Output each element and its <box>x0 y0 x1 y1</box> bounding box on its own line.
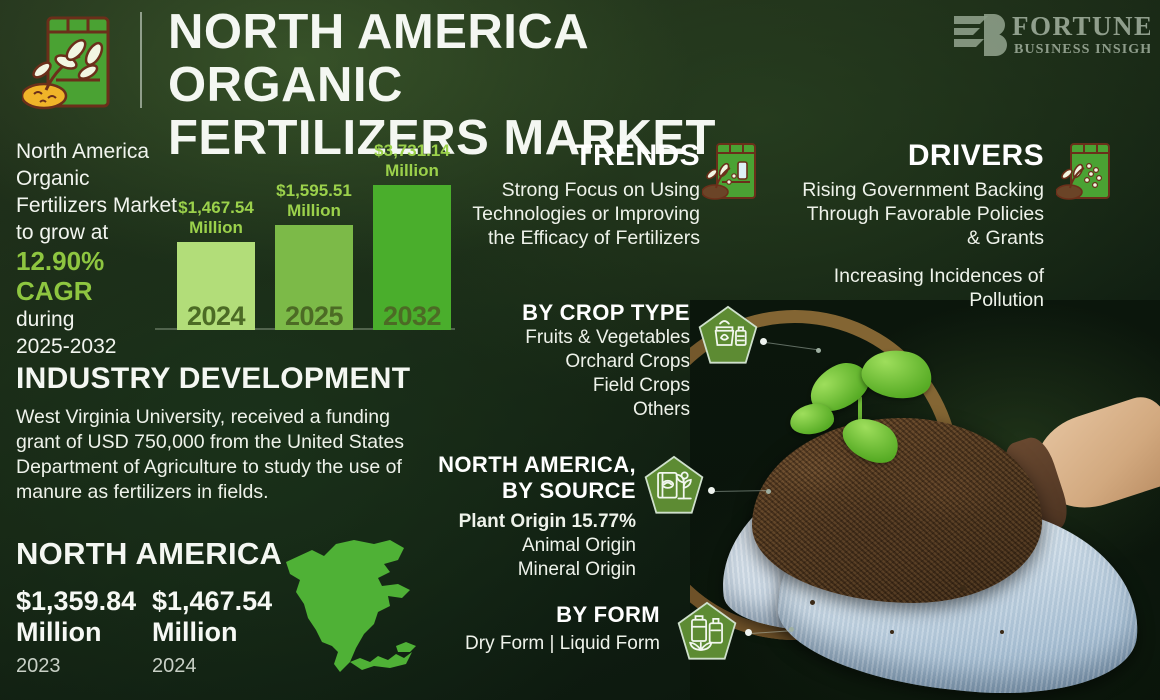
segment-item: Orchard Crops <box>440 350 690 374</box>
segment-item: Dry Form | Liquid Form <box>420 632 660 656</box>
segment-by-form: BY FORM Dry Form | Liquid Form <box>420 602 660 656</box>
segment-heading: BY CROP TYPE <box>440 300 690 326</box>
bar-group-2025: $1,595.51 Million 2025 <box>275 181 353 330</box>
bar-year-label: 2025 <box>275 301 353 332</box>
bar-year-label: 2024 <box>177 301 255 332</box>
infographic-root: NORTH AMERICA ORGANIC FERTILIZERS MARKET… <box>0 0 1160 700</box>
segment-by-source: NORTH AMERICA, BY SOURCE Plant Origin 15… <box>400 452 636 582</box>
cagr-line-2: Fertilizers Market <box>16 194 177 217</box>
bar-group-2024: $1,467.54 Million 2024 <box>177 198 255 330</box>
header: NORTH AMERICA ORGANIC FERTILIZERS MARKET… <box>0 0 1160 120</box>
segment-item: Plant Origin 15.77% <box>400 510 636 534</box>
trends-section: TRENDS Strong Focus on Using Technologie… <box>440 138 700 250</box>
north-america-heading: NORTH AMERICA <box>16 536 282 572</box>
trends-body: Strong Focus on Using Technologies or Im… <box>440 178 700 250</box>
drivers-heading: DRIVERS <box>800 138 1044 174</box>
segment-item: Animal Origin <box>400 534 636 558</box>
market-bar-chart: $1,467.54 Million 2024 $1,595.51 Million… <box>155 140 455 330</box>
form-bottle-icon <box>676 600 738 666</box>
cagr-line-1: North America Organic <box>16 140 149 190</box>
cagr-period: 2025-2032 <box>16 335 116 358</box>
cagr-line-4: during <box>16 308 74 331</box>
brand-name: FORTUNE <box>1012 11 1150 41</box>
bar-2024: 2024 <box>177 242 255 330</box>
na-year-2024: 2024 <box>152 655 197 678</box>
segment-item: Field Crops <box>440 374 690 398</box>
cagr-line-3: to grow at <box>16 221 108 244</box>
segment-heading-line-1: NORTH AMERICA, <box>400 452 636 478</box>
industry-development-body: West Virginia University, received a fun… <box>16 405 416 505</box>
header-divider <box>140 12 142 108</box>
segment-item: Fruits & Vegetables <box>440 326 690 350</box>
crop-basket-icon <box>697 304 759 370</box>
segment-heading: BY FORM <box>420 602 660 628</box>
hands-soil-seedling-photo <box>690 300 1160 700</box>
connector-dot <box>766 489 771 494</box>
bar-value-label: $1,467.54 Million <box>177 198 255 238</box>
connector-dot <box>789 627 794 632</box>
plant-source-icon <box>643 454 705 520</box>
na-year-2023: 2023 <box>16 655 61 678</box>
segment-by-crop-type: BY CROP TYPE Fruits & Vegetables Orchard… <box>440 300 690 422</box>
fertilizer-bag-icon <box>1056 140 1116 202</box>
trends-heading: TRENDS <box>440 138 700 174</box>
bar-2025: 2025 <box>275 225 353 330</box>
connector-dot <box>816 348 821 353</box>
na-figure-2023: $1,359.84 Million <box>16 586 136 648</box>
fertilizer-bag-icon <box>22 10 130 114</box>
na-figure-2024: $1,467.54 Million <box>152 586 272 648</box>
brand-sub: BUSINESS INSIGHTS <box>1014 42 1150 57</box>
segment-item: Mineral Origin <box>400 558 636 582</box>
drivers-body-2: Increasing Incidences of Pollution <box>800 264 1044 312</box>
drivers-body-1: Rising Government Backing Through Favora… <box>800 178 1044 250</box>
bar-value-label: $1,595.51 Million <box>275 181 353 221</box>
title-line-1: NORTH AMERICA ORGANIC <box>168 6 828 112</box>
segment-item: Others <box>440 398 690 422</box>
industry-development-heading: INDUSTRY DEVELOPMENT <box>16 362 410 396</box>
fertilizer-bag-icon <box>702 140 762 202</box>
fortune-business-insights-logo: FORTUNE BUSINESS INSIGHTS <box>950 8 1150 58</box>
segment-heading-line-2: BY SOURCE <box>400 478 636 504</box>
drivers-section: DRIVERS Rising Government Backing Throug… <box>800 138 1044 312</box>
